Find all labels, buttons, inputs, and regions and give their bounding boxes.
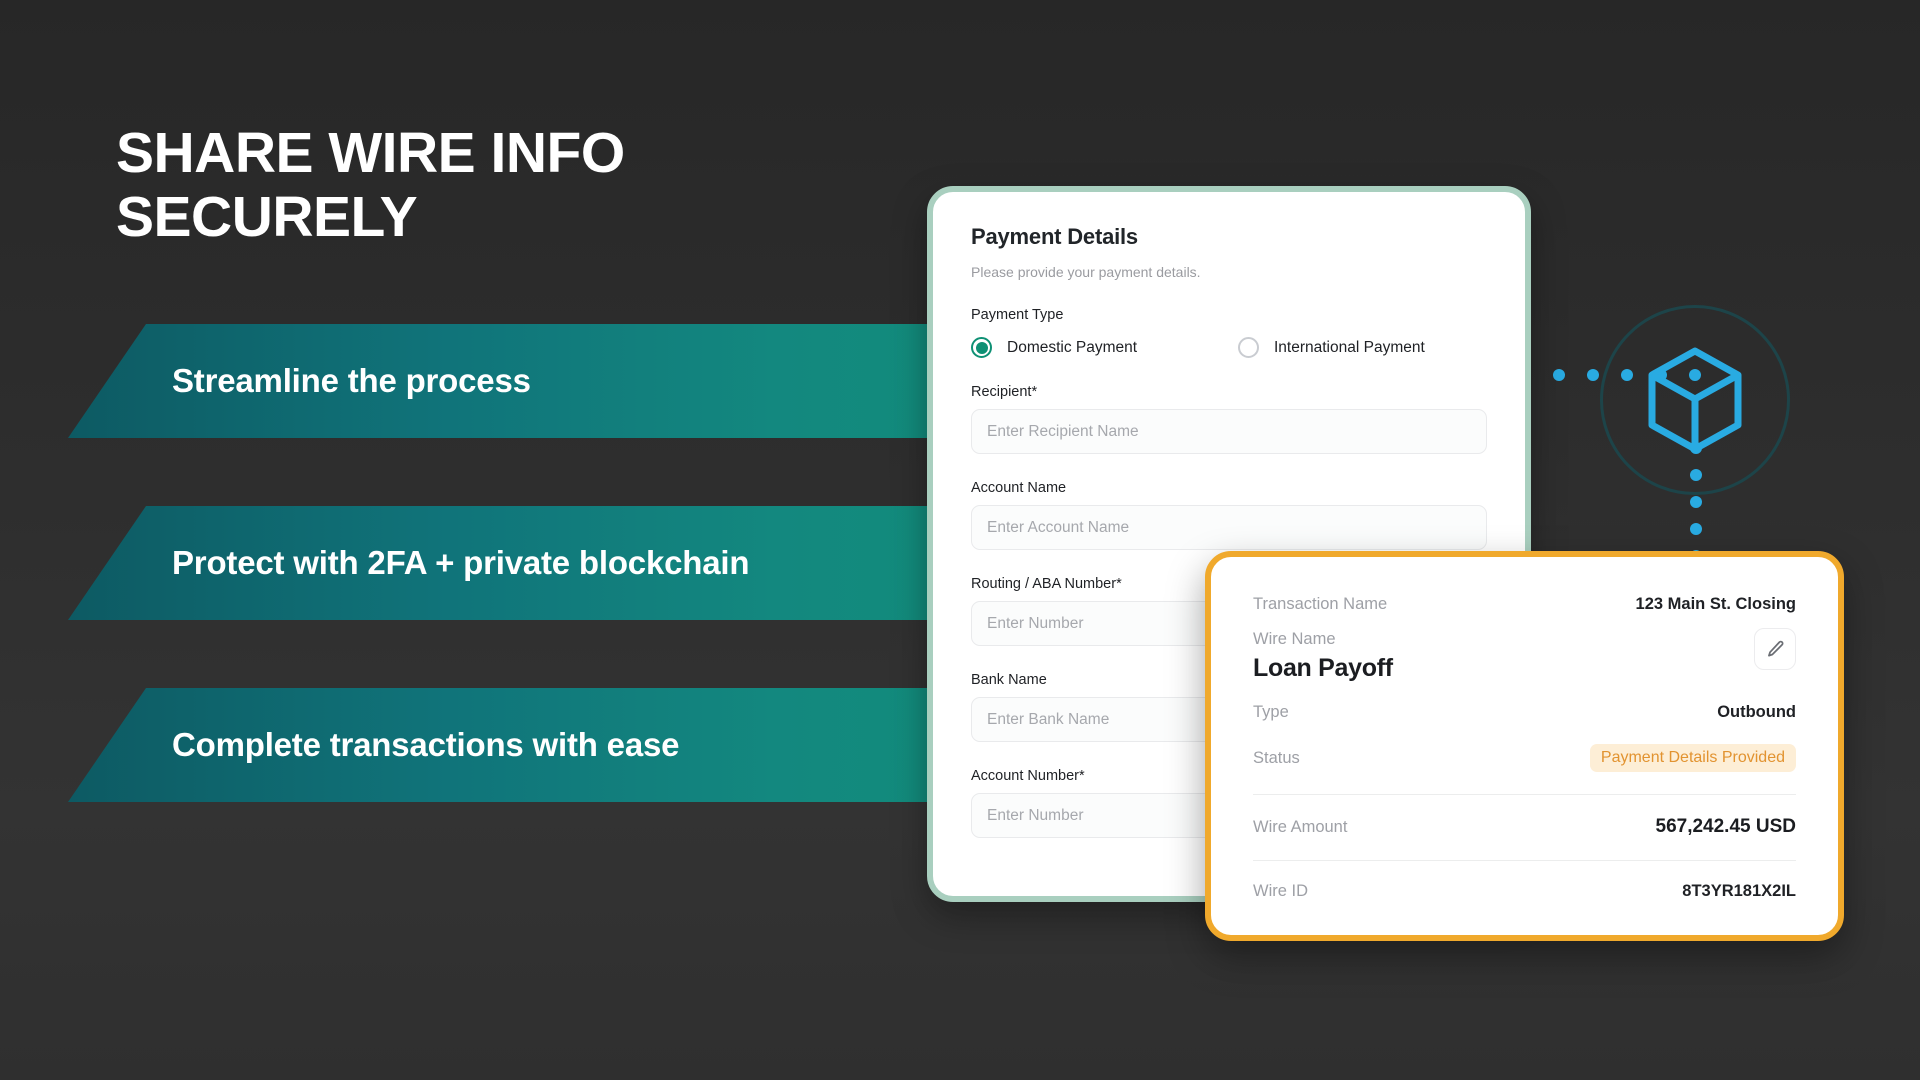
- label-wire-id: Wire ID: [1253, 882, 1308, 901]
- status-badge: Payment Details Provided: [1590, 744, 1796, 772]
- edit-wire-button[interactable]: [1754, 628, 1796, 670]
- label-wire-name: Wire Name: [1253, 630, 1796, 649]
- row-type: Type Outbound: [1253, 703, 1796, 722]
- label-wire-amount: Wire Amount: [1253, 818, 1347, 837]
- field-account-name: Account Name: [971, 480, 1487, 550]
- field-label-recipient: Recipient*: [971, 384, 1487, 400]
- cube-icon: [1645, 347, 1745, 453]
- radio-selected-icon[interactable]: [971, 337, 992, 358]
- radio-option-international[interactable]: International Payment: [1238, 337, 1425, 358]
- label-status: Status: [1253, 749, 1300, 768]
- divider: [1253, 860, 1796, 861]
- page-title: SHARE WIRE INFO SECURELY: [116, 122, 625, 250]
- value-wire-amount: 567,242.45 USD: [1656, 816, 1797, 838]
- payment-type-label: Payment Type: [971, 307, 1487, 323]
- row-status: Status Payment Details Provided: [1253, 744, 1796, 772]
- blockchain-graphic: [1600, 305, 1790, 495]
- row-transaction-name: Transaction Name 123 Main St. Closing: [1253, 595, 1796, 614]
- value-wire-id: 8T3YR181X2IL: [1682, 882, 1796, 901]
- value-type: Outbound: [1717, 703, 1796, 722]
- form-title: Payment Details: [971, 224, 1487, 250]
- value-transaction-name: 123 Main St. Closing: [1636, 595, 1796, 614]
- radio-unselected-icon[interactable]: [1238, 337, 1259, 358]
- divider: [1253, 794, 1796, 795]
- payment-type-radio-group: Domestic Payment International Payment: [971, 337, 1487, 358]
- pencil-icon: [1765, 639, 1786, 660]
- recipient-input[interactable]: [971, 409, 1487, 454]
- row-wire-id: Wire ID 8T3YR181X2IL: [1253, 882, 1796, 901]
- label-type: Type: [1253, 703, 1289, 722]
- row-wire-amount: Wire Amount 567,242.45 USD: [1253, 816, 1796, 838]
- radio-label-domestic: Domestic Payment: [1007, 339, 1137, 357]
- field-recipient: Recipient*: [971, 384, 1487, 454]
- radio-option-domestic[interactable]: Domestic Payment: [971, 337, 1238, 358]
- account-name-input[interactable]: [971, 505, 1487, 550]
- feature-banner-label: Streamline the process: [172, 362, 531, 400]
- radio-label-international: International Payment: [1274, 339, 1425, 357]
- value-wire-name: Loan Payoff: [1253, 654, 1796, 683]
- feature-banner-label: Protect with 2FA + private blockchain: [172, 544, 749, 582]
- transaction-summary-card: Transaction Name 123 Main St. Closing Wi…: [1205, 551, 1844, 941]
- field-label-account-name: Account Name: [971, 480, 1487, 496]
- form-subtitle: Please provide your payment details.: [971, 264, 1487, 280]
- label-transaction-name: Transaction Name: [1253, 595, 1387, 614]
- feature-banner-label: Complete transactions with ease: [172, 726, 679, 764]
- row-wire-name: Wire Name Loan Payoff: [1253, 630, 1796, 683]
